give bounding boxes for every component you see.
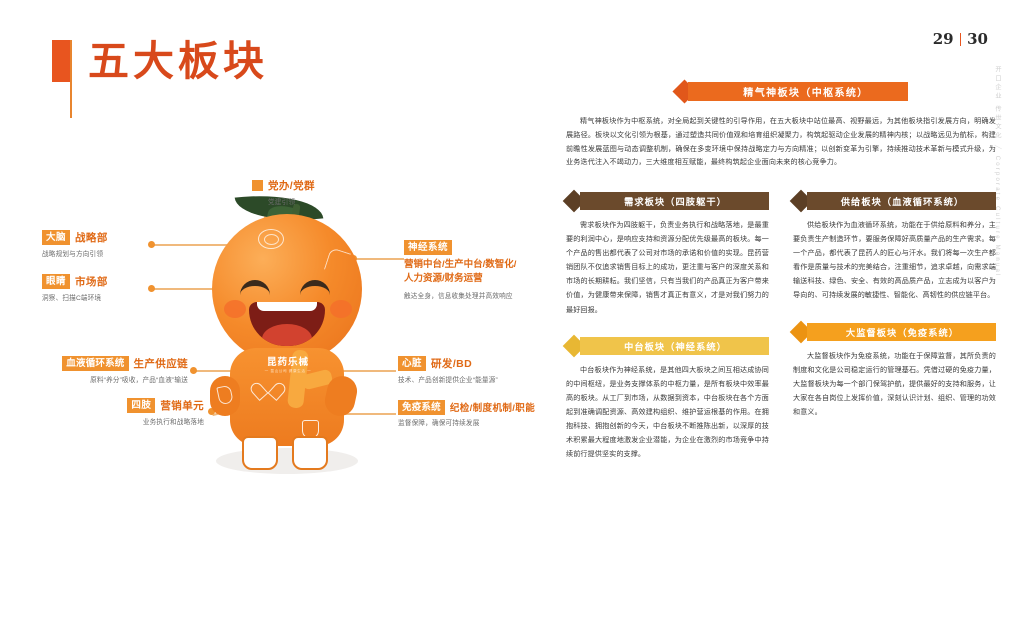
page-number-divider xyxy=(960,33,962,46)
page-number-right: 30 xyxy=(967,30,988,48)
flag-icon xyxy=(52,40,74,118)
label-brain-strategy: 大脑 战略部 战略规划与方向引领 xyxy=(42,230,108,258)
page-number: 29 30 xyxy=(933,30,988,48)
brain-icon xyxy=(258,229,284,249)
label-dept: 市场部 xyxy=(75,274,108,289)
panel-title: 需求板块（四肢躯干） xyxy=(586,192,765,210)
panel-header-supervision: 大监督板块（免疫系统） xyxy=(793,323,996,341)
panel-middle-platform: 中台板块（神经系统） 中台板块作为神经系统，是其他四大板块之间互相达成协同的中间… xyxy=(566,337,769,461)
belly-logo-main: 昆药乐械 xyxy=(250,354,326,368)
label-desc: 原料“养分”吸收，产品“血液”输送 xyxy=(18,374,188,384)
label-desc: 洞察、扫描C端环境 xyxy=(42,292,108,302)
belly-logo-sub: 一 昆山公司 健康生活 一 xyxy=(250,369,326,374)
mouth-icon xyxy=(249,302,325,346)
panel-body: 需求板块作为四肢躯干，负责业务执行和战略落地，是最重要的利润中心，是响应支持和资… xyxy=(566,218,769,316)
square-marker-icon xyxy=(252,180,263,191)
label-heart-rd: 心脏 研发/BD 技术、产品创新提供企业“能量源” xyxy=(398,356,498,384)
label-desc: 触达全身，信息收集处理并高效响应 xyxy=(404,290,516,300)
panel-column-left: 需求板块（四肢躯干） 需求板块作为四肢躯干，负责业务执行和战略落地，是最重要的利… xyxy=(566,192,769,480)
label-tag: 血液循环系统 xyxy=(62,356,128,371)
label-dept: 纪检/制度机制/职能 xyxy=(450,400,535,414)
label-dept: 生产供应链 xyxy=(134,356,189,371)
panel-header-middle-platform: 中台板块（神经系统） xyxy=(566,337,769,355)
label-limbs-marketing: 四肢 营销单元 业务执行和战略落地 xyxy=(44,398,204,426)
panel-header-supply: 供给板块（血液循环系统） xyxy=(793,192,996,210)
label-dept: 营销单元 xyxy=(160,398,204,413)
panel-column-right: 供给板块（血液循环系统） 供给板块作为血液循环系统，功能在于供给原料和养分，主要… xyxy=(793,192,996,480)
panel-title: 精气神板块（中枢系统） xyxy=(706,82,906,101)
cheek-blush xyxy=(224,300,246,318)
label-tag: 神经系统 xyxy=(404,240,452,255)
label-immune-system: 免疫系统 纪检/制度机制/职能 监督保障，确保可持续发展 xyxy=(398,400,535,427)
label-dept-multiline: 营销中台/生产中台/数智化/ 人力资源/财务运营 xyxy=(404,258,516,286)
mascot-leg xyxy=(242,436,278,470)
panel-body: 大监督板块作为免疫系统，功能在于保障监督，其所负责的制度和文化是公司稳定运行的管… xyxy=(793,349,996,419)
label-desc: 技术、产品创新提供企业“能量源” xyxy=(398,374,498,384)
panel-title: 中台板块（神经系统） xyxy=(586,337,765,355)
label-tag: 眼睛 xyxy=(42,274,70,289)
label-dept: 研发/BD xyxy=(431,356,472,371)
panel-title: 大监督板块（免疫系统） xyxy=(813,323,992,341)
connector-dot xyxy=(148,241,155,248)
label-desc: 战略规划与方向引领 xyxy=(42,248,108,258)
label-nervous-system: 神经系统 营销中台/生产中台/数智化/ 人力资源/财务运营 触达全身，信息收集处… xyxy=(404,240,516,300)
label-tag: 心脏 xyxy=(398,356,426,371)
page-title: 五大板块 xyxy=(88,40,268,83)
label-eyes-market: 眼睛 市场部 洞察、扫描C端环境 xyxy=(42,274,108,302)
panel-supervision: 大监督板块（免疫系统） 大监督板块作为免疫系统，功能在于保障监督，其所负责的制度… xyxy=(793,323,996,419)
nerve-icon xyxy=(324,247,351,275)
panel-demand: 需求板块（四肢躯干） 需求板块作为四肢躯干，负责业务执行和战略落地，是最重要的利… xyxy=(566,192,769,316)
mascot-orange-character: 昆药乐械 一 昆山公司 健康生活 一 xyxy=(206,190,366,485)
panel-header-demand: 需求板块（四肢躯干） xyxy=(566,192,769,210)
label-tag: 大脑 xyxy=(42,230,70,245)
label-party-office: 党办/党群 党建引领 xyxy=(252,178,315,206)
panel-title: 供给板块（血液循环系统） xyxy=(813,192,992,210)
content-column: 精气神板块（中枢系统） 精气神板块作为中枢系统，对全局起到关键性的引导作用，在五… xyxy=(566,82,996,481)
cheek-blush xyxy=(330,300,352,318)
panel-body: 中台板块作为神经系统，是其他四大板块之间互相达成协同的中间枢纽，是业务支撑体系的… xyxy=(566,363,769,461)
page-root: 五大板块 29 30 开口企业 传世文化 ╱ Corporate Culture… xyxy=(0,0,1024,628)
label-tag: 四肢 xyxy=(127,398,155,413)
mascot-leg xyxy=(292,436,328,470)
panel-grid: 需求板块（四肢躯干） 需求板块作为四肢躯干，负责业务执行和战略落地，是最重要的利… xyxy=(566,192,996,480)
connector-dot xyxy=(148,285,155,292)
eye-icon xyxy=(300,280,330,302)
label-dept: 战略部 xyxy=(75,230,108,245)
org-body-diagram: 昆药乐械 一 昆山公司 健康生活 一 党办/党群 党建引领 大脑 战略部 战略规… xyxy=(34,170,534,510)
label-desc: 监督保障，确保可持续发展 xyxy=(398,417,535,427)
eye-icon xyxy=(240,280,270,302)
mascot-head xyxy=(212,214,362,364)
panel-body: 供给板块作为血液循环系统，功能在于供给原料和养分，主要负责生产制造环节，要服务保… xyxy=(793,218,996,302)
panel-body-hero: 精气神板块作为中枢系统，对全局起到关键性的引导作用，在五大板块中站位最高、视野最… xyxy=(566,115,996,170)
mascot-shadow xyxy=(216,448,358,474)
label-desc: 党建引领 xyxy=(268,196,315,206)
mascot-belly-logo: 昆药乐械 一 昆山公司 健康生活 一 xyxy=(250,354,326,374)
connector-dot xyxy=(190,367,197,374)
label-desc: 业务执行和战略落地 xyxy=(44,416,204,426)
page-number-left: 29 xyxy=(933,30,954,48)
panel-supply: 供给板块（血液循环系统） 供给板块作为血液循环系统，功能在于供给原料和养分，主要… xyxy=(793,192,996,302)
label-tag: 免疫系统 xyxy=(398,400,445,415)
label-blood-supply: 血液循环系统 生产供应链 原料“养分”吸收，产品“血液”输送 xyxy=(18,356,188,384)
panel-header-hero: 精气神板块（中枢系统） xyxy=(676,82,908,101)
page-header: 五大板块 xyxy=(52,40,268,118)
heart-icon xyxy=(258,380,278,398)
label-dept: 党办/党群 xyxy=(268,178,315,193)
